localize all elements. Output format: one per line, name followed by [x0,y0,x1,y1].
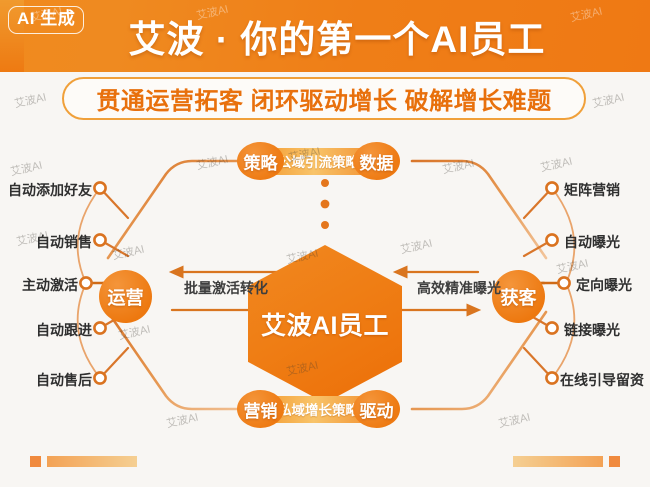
hub-customer-acquisition[interactable]: 获客 [492,270,545,323]
subtitle-pill: 贯通运营拓客 闭环驱动增长 破解增长难题 [62,77,586,120]
hub-operations[interactable]: 运营 [99,270,152,323]
label-public-domain-strategy: 公域引流策略 [271,148,366,175]
core-hexagon-label: 艾波AI员工 [261,306,389,342]
watermark: 艾波AI [591,89,626,112]
node-marketing[interactable]: 营销 [237,390,284,428]
ai-generated-badge: AI 生成 [8,6,84,34]
decor-bar-left [47,456,137,467]
decor-square-left [30,456,41,467]
top-strategy-group: 策略 公域引流策略 数据 [237,142,400,180]
node-data[interactable]: 数据 [353,142,400,180]
flow-right: 高效精准曝光 [391,281,527,296]
feature-left-0[interactable]: 自动添加好友 [0,180,92,200]
flow-left: 批量激活转化 [158,281,294,296]
feature-left-1[interactable]: 自动销售 [0,232,92,252]
flow-right-label: 高效精准曝光 [391,281,527,296]
subtitle-text: 贯通运营拓客 闭环驱动增长 破解增长难题 [96,81,551,116]
label-private-domain-strategy: 私域增长策略 [271,396,366,423]
feature-right-2[interactable]: 定向曝光 [576,275,632,295]
diagram-area: 艾波AI员工 策略 公域引流策略 数据 营销 私域增长策略 驱动 运营 获客 批… [0,120,650,450]
feature-right-3[interactable]: 链接曝光 [564,320,620,340]
watermark: 艾波AI [13,89,48,112]
node-drive[interactable]: 驱动 [353,390,400,428]
feature-left-4[interactable]: 自动售后 [0,370,92,390]
feature-right-0[interactable]: 矩阵营销 [564,180,620,200]
node-strategy[interactable]: 策略 [237,142,284,180]
header-banner: 艾波 · 你的第一个AI员工 AI 生成 艾波AI 艾波AI 艾波AI [0,0,650,72]
page-title: 艾波 · 你的第一个AI员工 [0,0,650,72]
flow-left-label: 批量激活转化 [158,281,294,296]
bottom-strategy-group: 营销 私域增长策略 驱动 [237,390,400,428]
feature-left-2[interactable]: 主动激活 [0,275,78,295]
decor-bar-right [513,456,603,467]
feature-right-4[interactable]: 在线引导留资 [560,370,644,390]
infographic-canvas: 艾波 · 你的第一个AI员工 AI 生成 艾波AI 艾波AI 艾波AI 贯通运营… [0,0,650,487]
feature-left-3[interactable]: 自动跟进 [0,320,92,340]
feature-right-1[interactable]: 自动曝光 [564,232,620,252]
decor-square-right [609,456,620,467]
